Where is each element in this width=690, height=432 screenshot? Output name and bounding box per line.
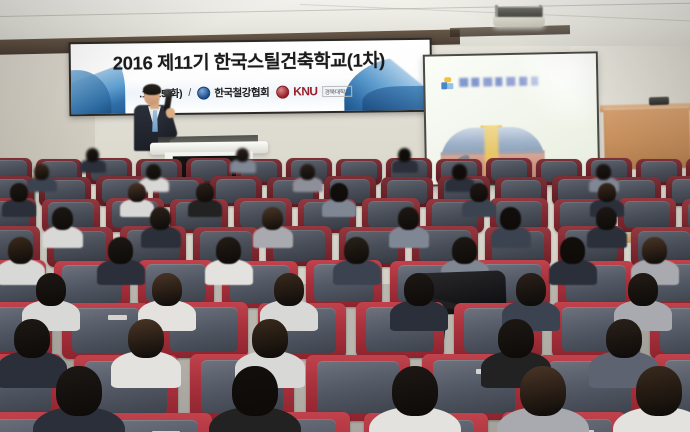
audience-member: [596, 164, 611, 180]
audience-member: [598, 183, 616, 202]
audience-head: [52, 207, 73, 230]
audience-head: [498, 319, 534, 358]
audience-member: [516, 273, 546, 306]
audience-member: [8, 237, 33, 264]
ceiling-projector-icon: [489, 5, 551, 27]
banner-organizer: 한국철강협회: [214, 84, 269, 100]
audience-member: [300, 164, 315, 180]
audience-member: [10, 183, 28, 202]
audience-head: [232, 366, 278, 416]
audience-member: [146, 164, 161, 180]
banner-title: 2016 제11기 한국스틸건축학교(1차): [113, 46, 413, 76]
seat-cushion: [624, 201, 669, 228]
audience-member: [628, 273, 658, 306]
audience-member: [452, 164, 467, 180]
audience-member: [128, 183, 146, 202]
audience-head: [300, 164, 315, 180]
microphone-head: [163, 89, 172, 97]
audience-member: [636, 366, 682, 416]
audience-head: [404, 273, 434, 306]
audience-head: [636, 366, 682, 416]
audience-head: [196, 183, 214, 202]
audience-head: [596, 164, 611, 180]
audience-head: [8, 237, 33, 264]
audience-member: [452, 237, 477, 264]
banner-surface: 2016 제11기 한국스틸건축학교(1차) .10.25(화) / 한국철강협…: [71, 40, 431, 114]
audience-member: [606, 319, 642, 358]
slide-logo-part-3: [447, 83, 453, 89]
audience-member: [262, 207, 283, 230]
audience-head: [500, 207, 521, 230]
audience-member: [398, 148, 411, 162]
banner-subtitle: .10.25(화) / 한국철강협회 KNU 경북대학교: [139, 80, 429, 104]
audience-member: [560, 237, 585, 264]
audience-member: [34, 164, 49, 180]
audience-head: [252, 319, 288, 358]
audience-member: [232, 366, 278, 416]
audience-head: [36, 273, 66, 306]
audience-head: [150, 207, 171, 230]
audience-head: [452, 164, 467, 180]
audience-head: [14, 319, 50, 358]
screen-glare: [505, 53, 598, 141]
ksa-logo-icon: [197, 86, 210, 99]
audience-head: [128, 319, 164, 358]
audience-head: [344, 237, 369, 264]
event-banner: 2016 제11기 한국스틸건축학교(1차) .10.25(화) / 한국철강협…: [69, 38, 433, 116]
audience-head: [606, 319, 642, 358]
audience-member: [108, 237, 133, 264]
audience-head: [628, 273, 658, 306]
audience-head: [274, 273, 304, 306]
audience-head: [398, 207, 419, 230]
audience-head: [642, 237, 667, 264]
banner-cosponsor-abbr: KNU: [293, 84, 317, 98]
audience-head: [560, 237, 585, 264]
projector-lens: [493, 17, 545, 27]
audience-head: [452, 237, 477, 264]
audience-member: [642, 237, 667, 264]
audience-head: [596, 207, 617, 230]
audience-member: [86, 148, 99, 162]
slide-logo-icon: [441, 77, 453, 90]
audience-member: [404, 273, 434, 306]
audience-head: [34, 164, 49, 180]
counter-object: [649, 97, 669, 106]
audience-head: [236, 148, 249, 162]
audience-head: [398, 148, 411, 162]
audience-member: [392, 366, 438, 416]
audience-member: [274, 273, 304, 306]
audience-member: [344, 237, 369, 264]
audience-member: [52, 207, 73, 230]
audience-member: [500, 207, 521, 230]
audience-member: [152, 273, 182, 306]
audience-head: [262, 207, 283, 230]
audience-head: [520, 366, 566, 416]
audience-member: [398, 207, 419, 230]
audience-member: [252, 319, 288, 358]
audience-member: [498, 319, 534, 358]
audience-member: [56, 366, 102, 416]
audience-member: [236, 148, 249, 162]
banner-cosponsor-full: 경북대학교: [322, 85, 352, 96]
knu-logo-icon: [276, 85, 289, 98]
audience-member: [128, 319, 164, 358]
audience-head: [146, 164, 161, 180]
audience-head: [330, 183, 348, 202]
audience-member: [14, 319, 50, 358]
audience-head: [516, 273, 546, 306]
audience-member: [36, 273, 66, 306]
audience-head: [86, 148, 99, 162]
audience-member: [216, 237, 241, 264]
audience-member: [520, 366, 566, 416]
audience-head: [56, 366, 102, 416]
audience-head: [216, 237, 241, 264]
audience-head: [152, 273, 182, 306]
presenter-hair: [143, 84, 161, 95]
audience-member: [470, 183, 488, 202]
banner-separator: /: [188, 87, 191, 99]
audience-head: [10, 183, 28, 202]
audience-member: [596, 207, 617, 230]
seat-cushion: [317, 361, 398, 414]
audience-head: [598, 183, 616, 202]
audience-seating: [0, 150, 690, 432]
audience-member: [150, 207, 171, 230]
audience-head: [128, 183, 146, 202]
lecture-hall-photo: 2016 제11기 한국스틸건축학교(1차) .10.25(화) / 한국철강협…: [0, 0, 690, 432]
audience-head: [392, 366, 438, 416]
audience-member: [330, 183, 348, 202]
audience-head: [108, 237, 133, 264]
audience-head: [470, 183, 488, 202]
audience-member: [196, 183, 214, 202]
seat-number-tag: [108, 315, 127, 320]
